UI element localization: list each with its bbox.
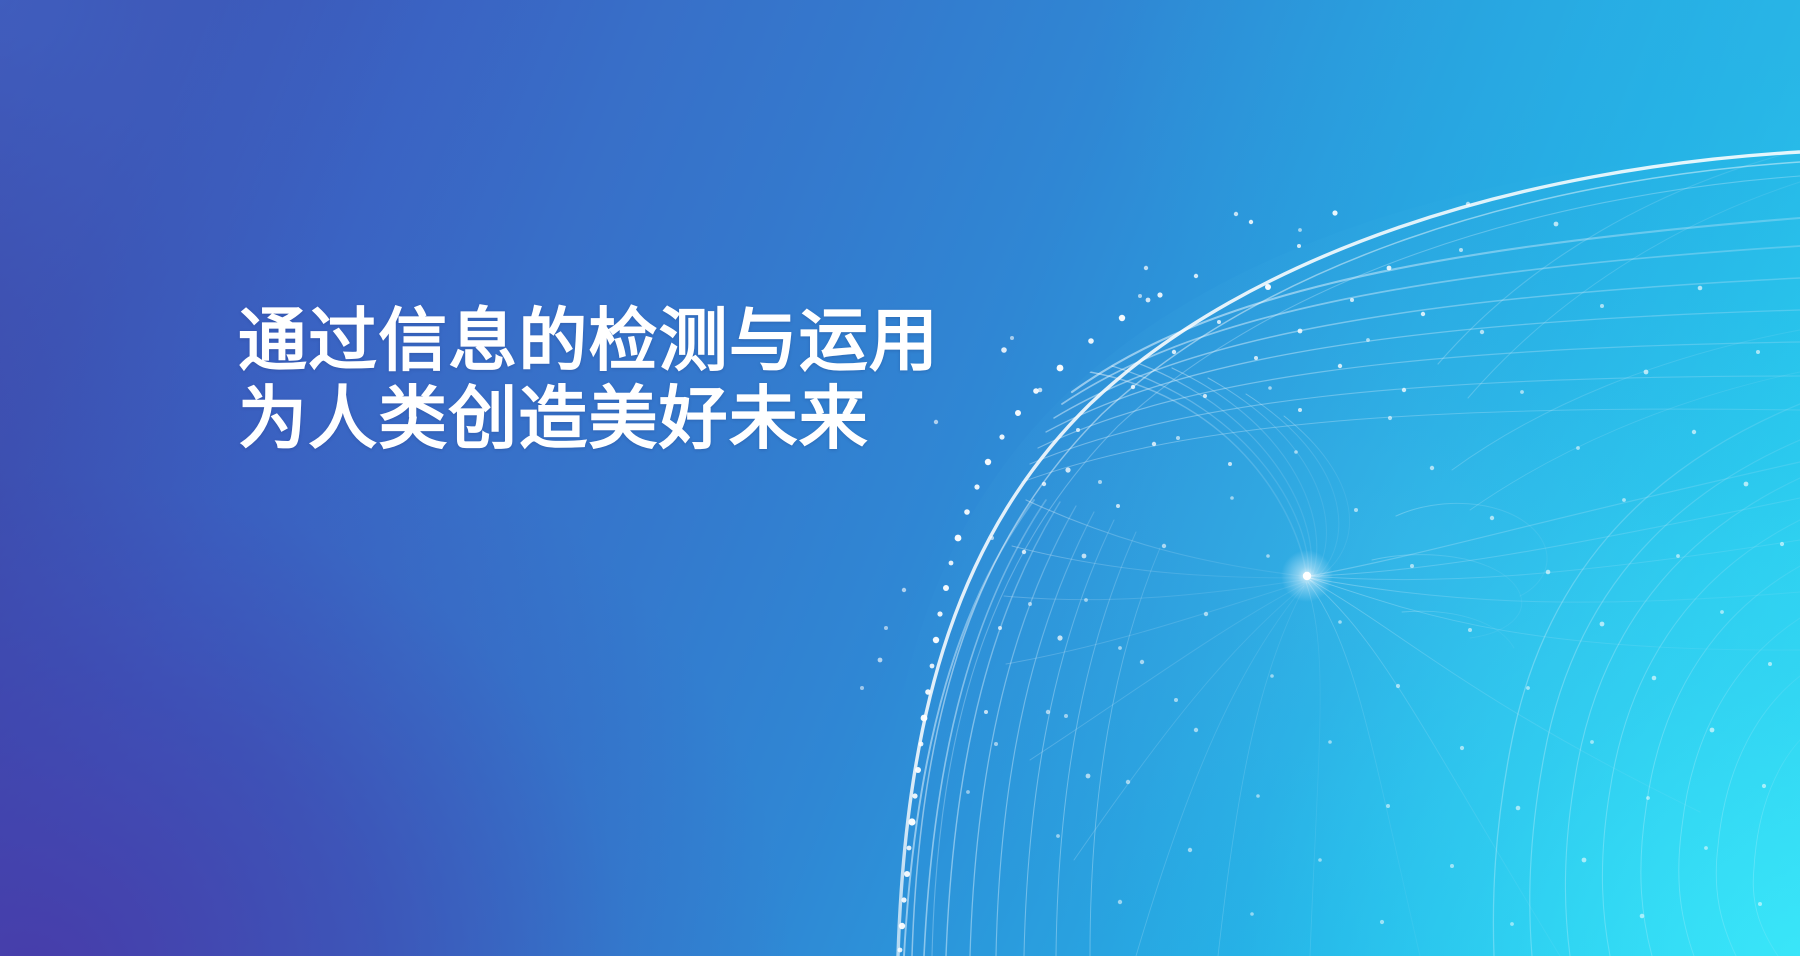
headline-line-1: 通过信息的检测与运用 bbox=[238, 302, 998, 380]
background-glow-bottom-right bbox=[0, 0, 1800, 956]
hero-banner: 通过信息的检测与运用 为人类创造美好未来 bbox=[0, 0, 1800, 956]
headline-line-2: 为人类创造美好未来 bbox=[238, 380, 998, 458]
headline: 通过信息的检测与运用 为人类创造美好未来 bbox=[238, 302, 998, 458]
